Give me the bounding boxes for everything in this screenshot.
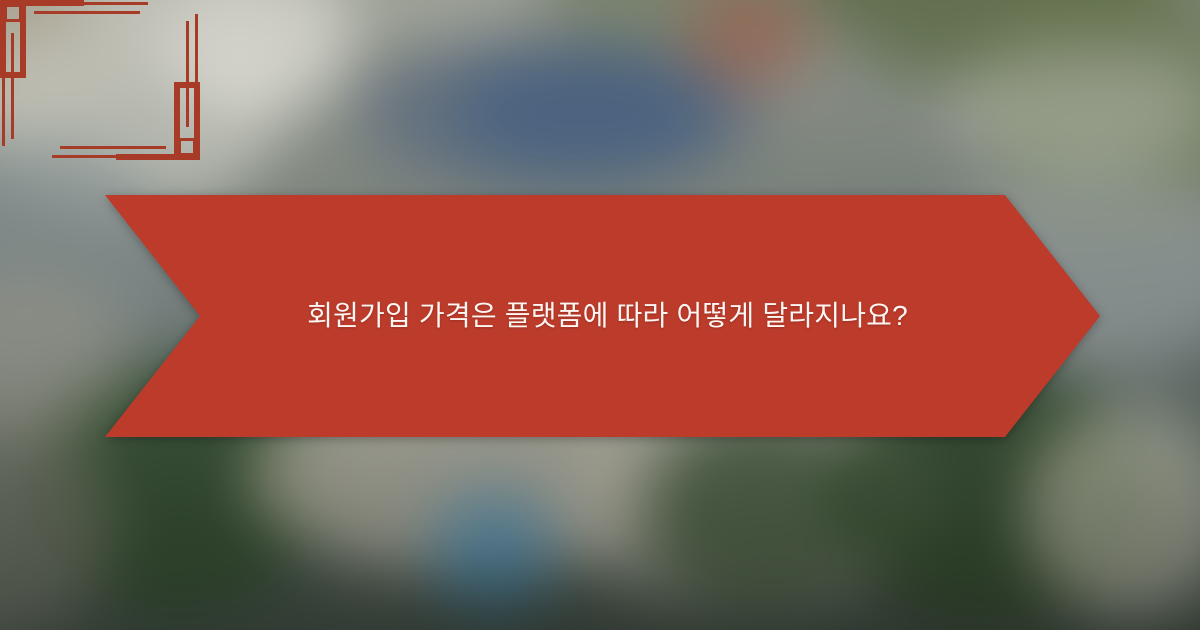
social-share-card: 회원가입 가격은 플랫폼에 따라 어떻게 달라지나요?	[0, 0, 1200, 630]
headline-banner: 회원가입 가격은 플랫폼에 따라 어떻게 달라지나요?	[105, 195, 1100, 437]
headline-banner-shape: 회원가입 가격은 플랫폼에 따라 어떻게 달라지나요?	[105, 195, 1100, 437]
page-title: 회원가입 가격은 플랫폼에 따라 어떻게 달라지나요?	[307, 297, 908, 335]
